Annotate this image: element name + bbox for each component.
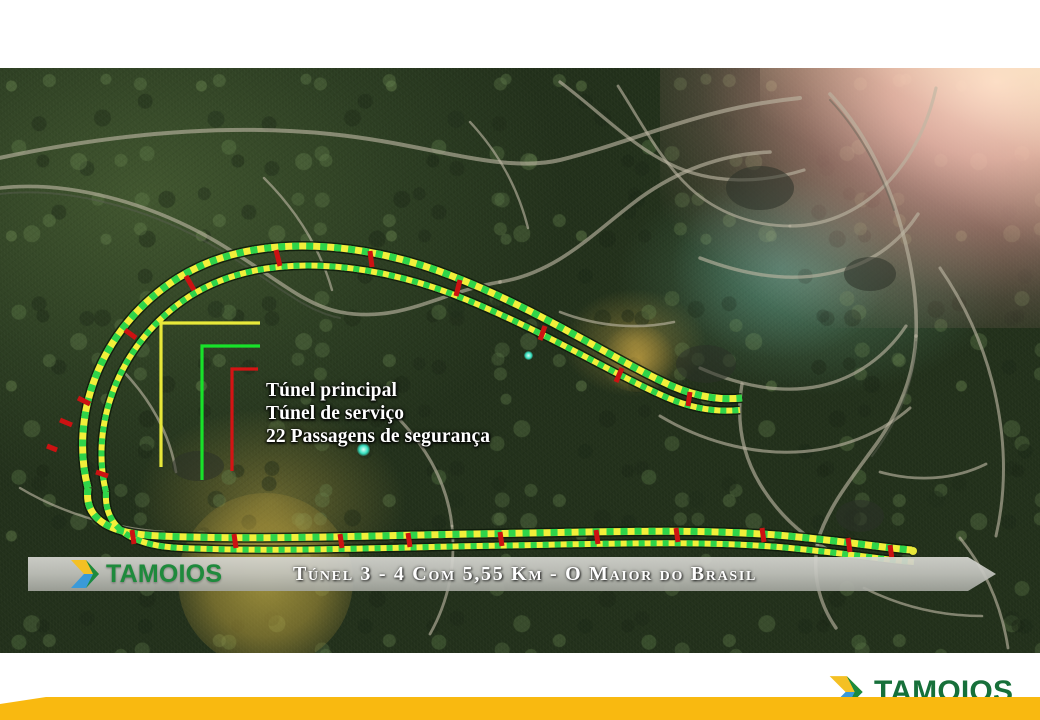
legend-leader-cross-passages bbox=[232, 369, 258, 471]
footer-accent-bar bbox=[0, 697, 1040, 720]
tamoios-logo-banner: TAMOIOS bbox=[68, 556, 222, 592]
slide-canvas: Túnel principal Túnel de serviço 22 Pass… bbox=[0, 0, 1040, 720]
tamoios-chevron-icon bbox=[68, 556, 104, 592]
legend-label-main-tunnel: Túnel principal bbox=[266, 380, 397, 402]
tamoios-wordmark-banner: TAMOIOS bbox=[106, 560, 222, 589]
title-banner-text: Túnel 3 - 4 Com 5,55 Km - O Maior do Bra… bbox=[293, 557, 757, 591]
legend-label-service-tunnel: Túnel de serviço bbox=[266, 403, 404, 425]
legend-label-cross-passages: 22 Passagens de segurança bbox=[266, 426, 490, 448]
